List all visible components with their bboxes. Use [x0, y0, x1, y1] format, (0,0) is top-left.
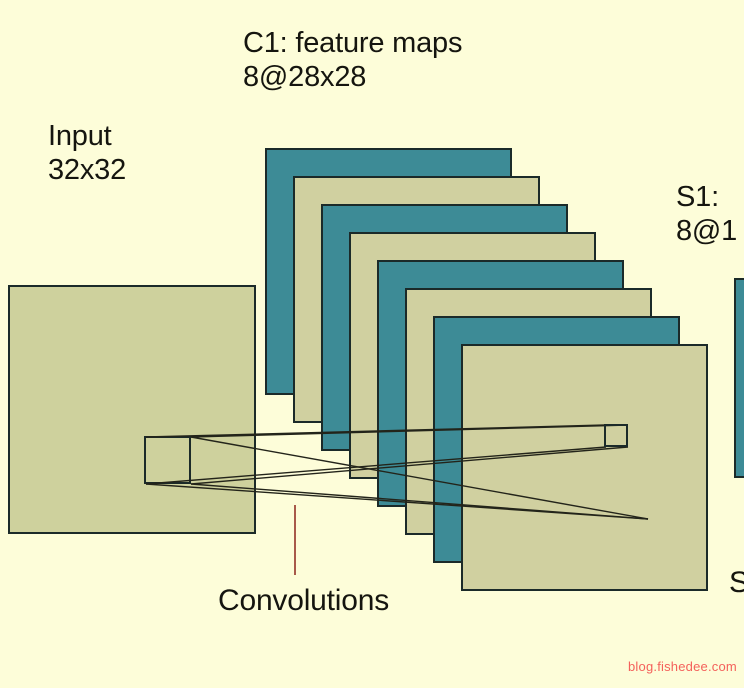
c1-dims: 8@28x28 [243, 61, 366, 93]
receptive-field-box-c1 [604, 424, 628, 447]
convolutions-pointer-line [294, 505, 296, 575]
c1-label: C1: feature maps8@28x28 [243, 26, 462, 94]
cnn-diagram-canvas: Input32x32C1: feature maps8@28x28S1: 8@1… [0, 0, 744, 688]
partial-right-label: S [729, 566, 744, 600]
input-title: Input [48, 120, 112, 152]
feature-map-card-7 [461, 344, 708, 591]
convolutions-caption: Convolutions [218, 584, 389, 618]
input-label: Input32x32 [48, 119, 126, 187]
input-dims: 32x32 [48, 154, 126, 186]
s1-title: S1: [676, 181, 727, 213]
s1-plane [734, 278, 744, 478]
s1-dims: 8@1 [676, 215, 737, 247]
watermark: blog.fishedee.com [628, 659, 737, 674]
c1-title: C1: feature maps [243, 27, 462, 59]
s1-label: S1: 8@1 [676, 180, 737, 248]
